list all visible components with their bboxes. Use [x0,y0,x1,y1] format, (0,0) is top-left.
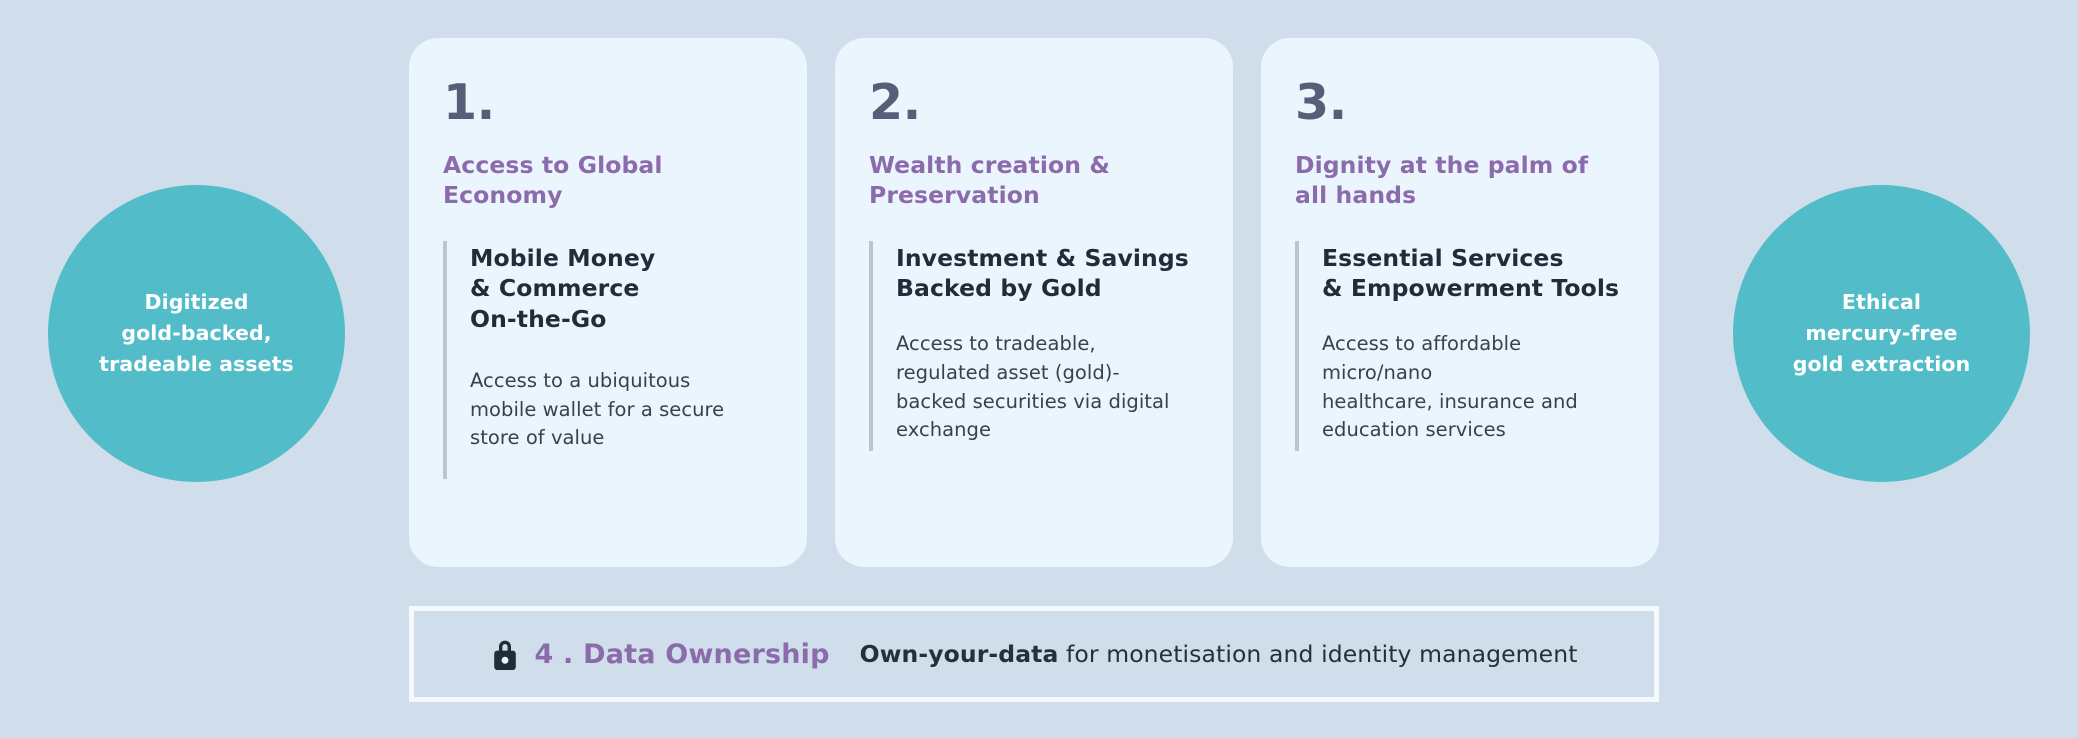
data-ownership-description: Own-your-data for monetisation and ident… [860,640,1578,668]
infographic-canvas: Digitized gold-backed, tradeable assets … [0,0,2078,738]
card-title-1: Access to Global Economy [443,151,773,211]
right-circle-badge: Ethical mercury-free gold extraction [1733,185,2030,482]
card-detail-heading-3: Essential Services & Empowerment Tools [1322,243,1625,305]
left-circle-text: Digitized gold-backed, tradeable assets [99,287,294,380]
data-ownership-rest: for monetisation and identity management [1058,640,1577,668]
data-ownership-bar[interactable]: 4 . Data Ownership Own-your-data for mon… [409,606,1659,702]
card-detail-heading-2: Investment & Savings Backed by Gold [896,243,1199,305]
card-detail-block-3: Essential Services & Empowerment Tools A… [1295,241,1625,451]
lock-icon [490,638,520,672]
card-number-3: 3. [1295,78,1625,127]
right-circle-text: Ethical mercury-free gold extraction [1793,287,1971,380]
pillar-card-2[interactable]: 2. Wealth creation & Preservation Invest… [835,38,1233,567]
card-detail-body-3: Access to affordable micro/nano healthca… [1322,330,1625,445]
pillar-cards-row: 1. Access to Global Economy Mobile Money… [409,38,1659,567]
card-number-2: 2. [869,78,1199,127]
card-title-2: Wealth creation & Preservation [869,151,1199,211]
card-number-1: 1. [443,78,773,127]
left-circle-badge: Digitized gold-backed, tradeable assets [48,185,345,482]
data-ownership-bar-content: 4 . Data Ownership Own-your-data for mon… [490,637,1577,671]
card-detail-block-2: Investment & Savings Backed by Gold Acce… [869,241,1199,451]
card-detail-body-2: Access to tradeable, regulated asset (go… [896,330,1199,445]
card-title-3: Dignity at the palm of all hands [1295,151,1625,211]
card-detail-block-1: Mobile Money & Commerce On-the-Go Access… [443,241,773,479]
data-ownership-label: 4 . Data Ownership [534,639,829,670]
card-detail-heading-1: Mobile Money & Commerce On-the-Go [470,243,773,335]
data-ownership-emphasis: Own-your-data [860,640,1059,668]
pillar-card-1[interactable]: 1. Access to Global Economy Mobile Money… [409,38,807,567]
card-detail-body-1: Access to a ubiquitous mobile wallet for… [470,367,773,453]
pillar-card-3[interactable]: 3. Dignity at the palm of all hands Esse… [1261,38,1659,567]
